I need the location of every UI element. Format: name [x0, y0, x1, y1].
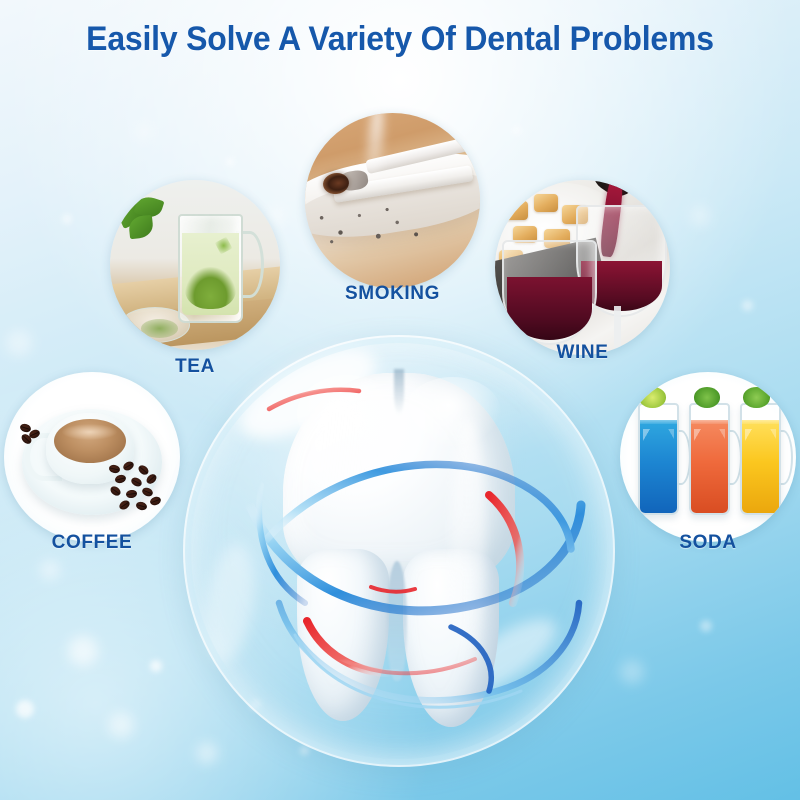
tea-photo	[110, 180, 280, 350]
problem-node-soda[interactable]: SODA	[620, 372, 796, 542]
mint-leaf-icon	[117, 197, 168, 241]
wine-label: WINE	[495, 342, 670, 364]
problem-node-wine[interactable]: WINE	[495, 180, 670, 355]
coffee-photo	[4, 372, 180, 542]
coffee-label: COFFEE	[4, 532, 180, 554]
coffee-beans-icon	[18, 420, 50, 447]
orbit-arc-icon	[183, 335, 615, 767]
tooth-icon	[283, 373, 515, 723]
smoking-photo	[305, 113, 480, 288]
wine-photo	[495, 180, 670, 355]
soda-glass-blue	[638, 403, 679, 516]
protective-bubble-icon	[183, 335, 615, 767]
problem-node-smoking[interactable]: SMOKING	[305, 113, 480, 288]
coffee-beans-icon	[106, 460, 173, 518]
page-title: Easily Solve A Variety Of Dental Problem…	[24, 20, 776, 59]
poster-canvas: Easily Solve A Variety Of Dental Problem…	[0, 0, 800, 800]
soda-glass-orange	[689, 403, 730, 516]
soda-glass-yellow	[740, 403, 781, 516]
problem-node-tea[interactable]: TEA	[110, 180, 280, 350]
smoking-label: SMOKING	[305, 283, 480, 305]
problem-node-coffee[interactable]: COFFEE	[4, 372, 180, 542]
soda-photo	[620, 372, 796, 542]
soda-label: SODA	[620, 532, 796, 554]
